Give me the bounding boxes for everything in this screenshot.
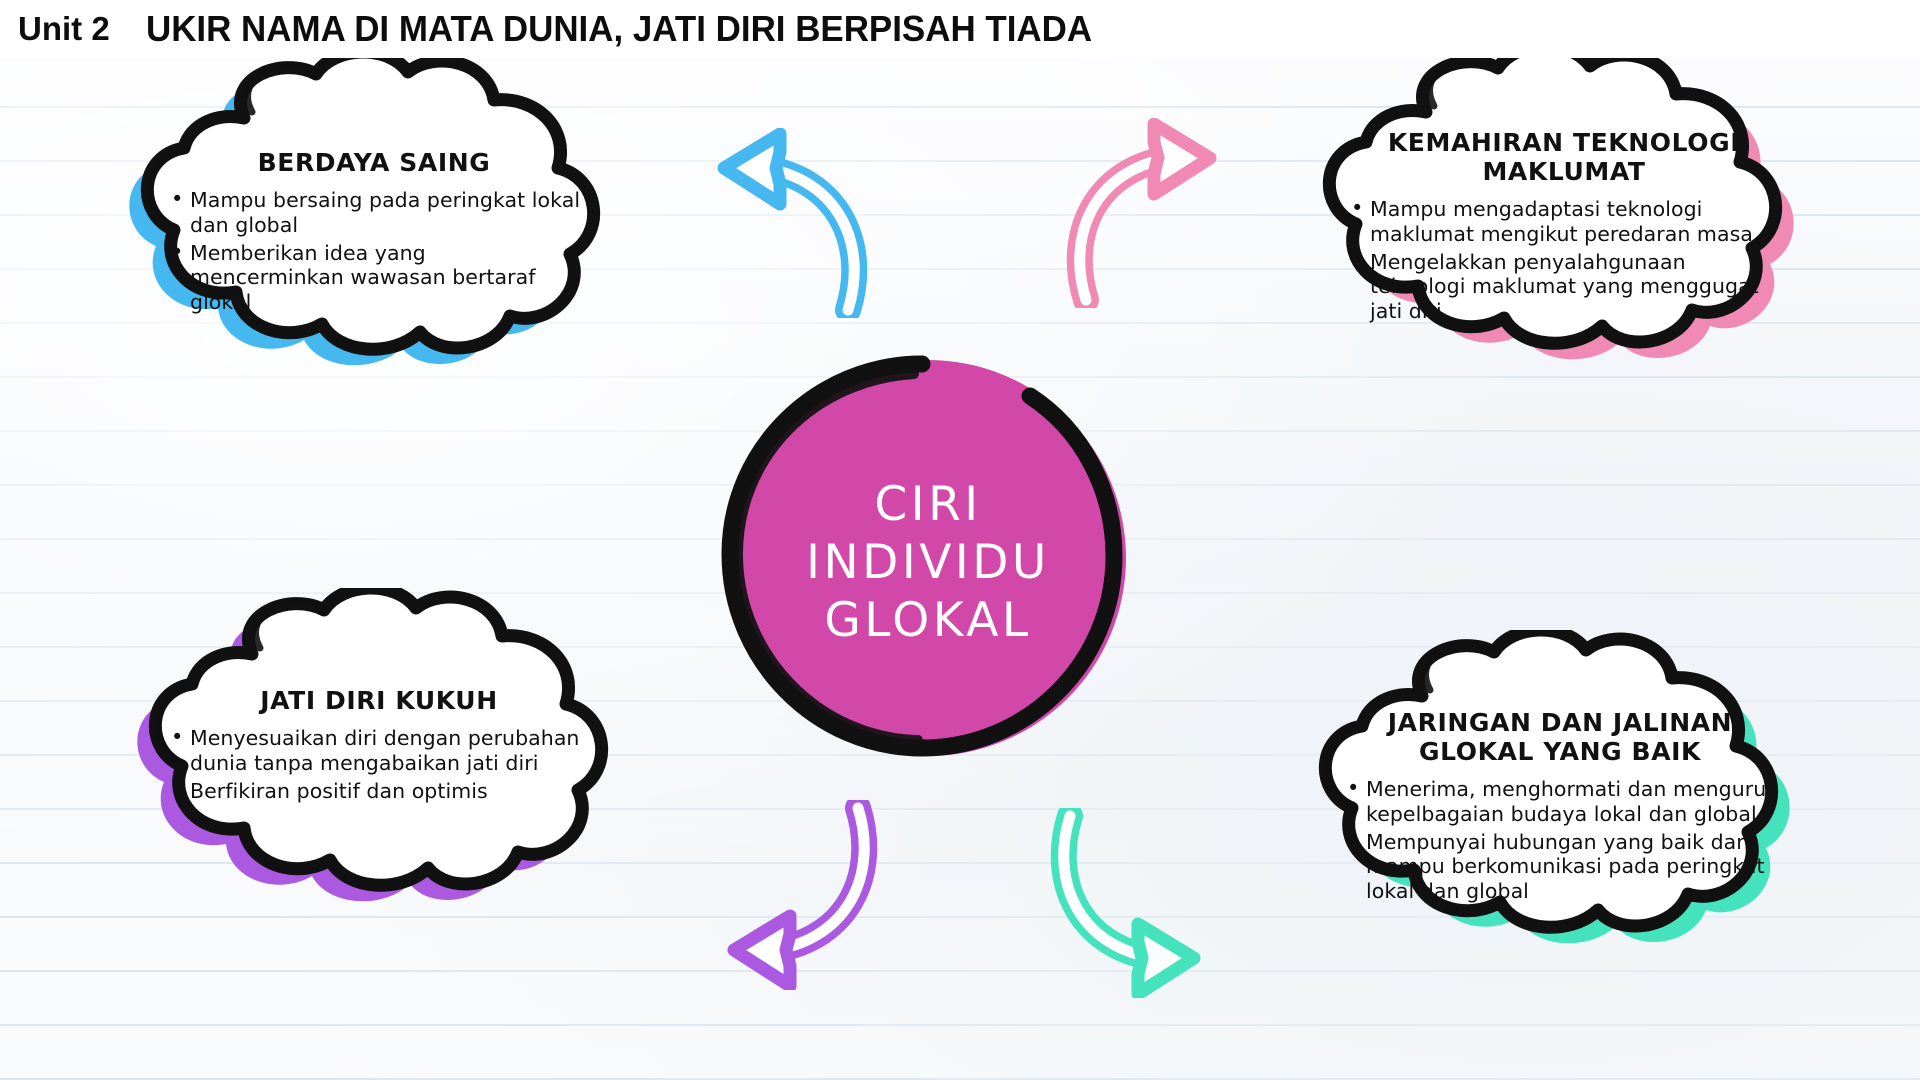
cloud-text-jati-diri-kukuh: JATI DIRI KUKUH Menyesuaikan diri dengan… [164,686,594,806]
cloud-text-kemahiran-teknologi-maklumat: KEMAHIRAN TEKNOLOGI MAKLUMAT Mampu menga… [1344,128,1784,327]
center-line-1: CIRI [874,476,981,534]
list-item: Menyesuaikan diri dengan perubahan dunia… [190,726,594,776]
unit-label: Unit 2 [18,10,110,48]
list-item: Mempunyai hubungan yang baik dan mampu b… [1366,830,1780,904]
list-item: Mengelakkan penyalahgunaan teknologi mak… [1370,250,1784,324]
list-item: Mampu mengadaptasi teknologi maklumat me… [1370,197,1784,247]
arrow-to-kemahiran-teknologi [1042,118,1262,308]
arrow-to-jati-diri-kukuh [672,800,902,990]
center-line-3: GLOKAL [824,592,1031,650]
center-node-ciri-individu-glokal[interactable]: CIRI INDIVIDU GLOKAL [690,330,1150,790]
cloud-title: BERDAYA SAING [164,148,584,177]
cloud-title: JATI DIRI KUKUH [164,686,594,715]
curved-arrow-left-down-icon [672,800,902,990]
list-item: Berfikiran positif dan optimis [190,779,594,804]
cloud-title: KEMAHIRAN TEKNOLOGI MAKLUMAT [1344,128,1784,186]
cloud-bullet-list: Menerima, menghormati dan mengurus kepel… [1340,777,1780,904]
mindmap-stage: BERDAYA SAING Mampu bersaing pada pering… [0,0,1920,1080]
cloud-jati-diri-kukuh[interactable]: JATI DIRI KUKUH Menyesuaikan diri dengan… [80,588,680,938]
cloud-bullet-list: Mampu bersaing pada peringkat lokal dan … [164,188,584,315]
cloud-bullet-list: Menyesuaikan diri dengan perubahan dunia… [164,726,594,803]
list-item: Mampu bersaing pada peringkat lokal dan … [190,188,584,238]
cloud-berdaya-saing[interactable]: BERDAYA SAING Mampu bersaing pada pering… [72,52,672,402]
curved-arrow-left-up-icon [672,128,892,318]
cloud-text-jaringan-dan-jalinan: JARINGAN DAN JALINAN GLOKAL YANG BAIK Me… [1340,708,1780,907]
list-item: Menerima, menghormati dan mengurus kepel… [1366,777,1780,827]
cloud-jaringan-dan-jalinan-glokal-yang-baik[interactable]: JARINGAN DAN JALINAN GLOKAL YANG BAIK Me… [1258,630,1858,980]
cloud-bullet-list: Mampu mengadaptasi teknologi maklumat me… [1344,197,1784,324]
list-item: Memberikan idea yang mencerminkan wawasa… [190,241,584,315]
cloud-kemahiran-teknologi-maklumat[interactable]: KEMAHIRAN TEKNOLOGI MAKLUMAT Mampu menga… [1262,46,1862,396]
page-title: UKIR NAMA DI MATA DUNIA, JATI DIRI BERPI… [146,8,1092,50]
page-header: Unit 2 UKIR NAMA DI MATA DUNIA, JATI DIR… [0,0,1920,58]
curved-arrow-right-down-icon [1026,808,1256,998]
center-line-2: INDIVIDU [806,534,1050,592]
curved-arrow-right-up-icon [1042,118,1262,308]
center-label: CIRI INDIVIDU GLOKAL [690,330,1150,790]
arrow-to-jaringan-jalinan [1026,808,1256,998]
cloud-title: JARINGAN DAN JALINAN GLOKAL YANG BAIK [1340,708,1780,766]
arrow-to-berdaya-saing [672,128,892,318]
cloud-text-berdaya-saing: BERDAYA SAING Mampu bersaing pada pering… [164,148,584,318]
